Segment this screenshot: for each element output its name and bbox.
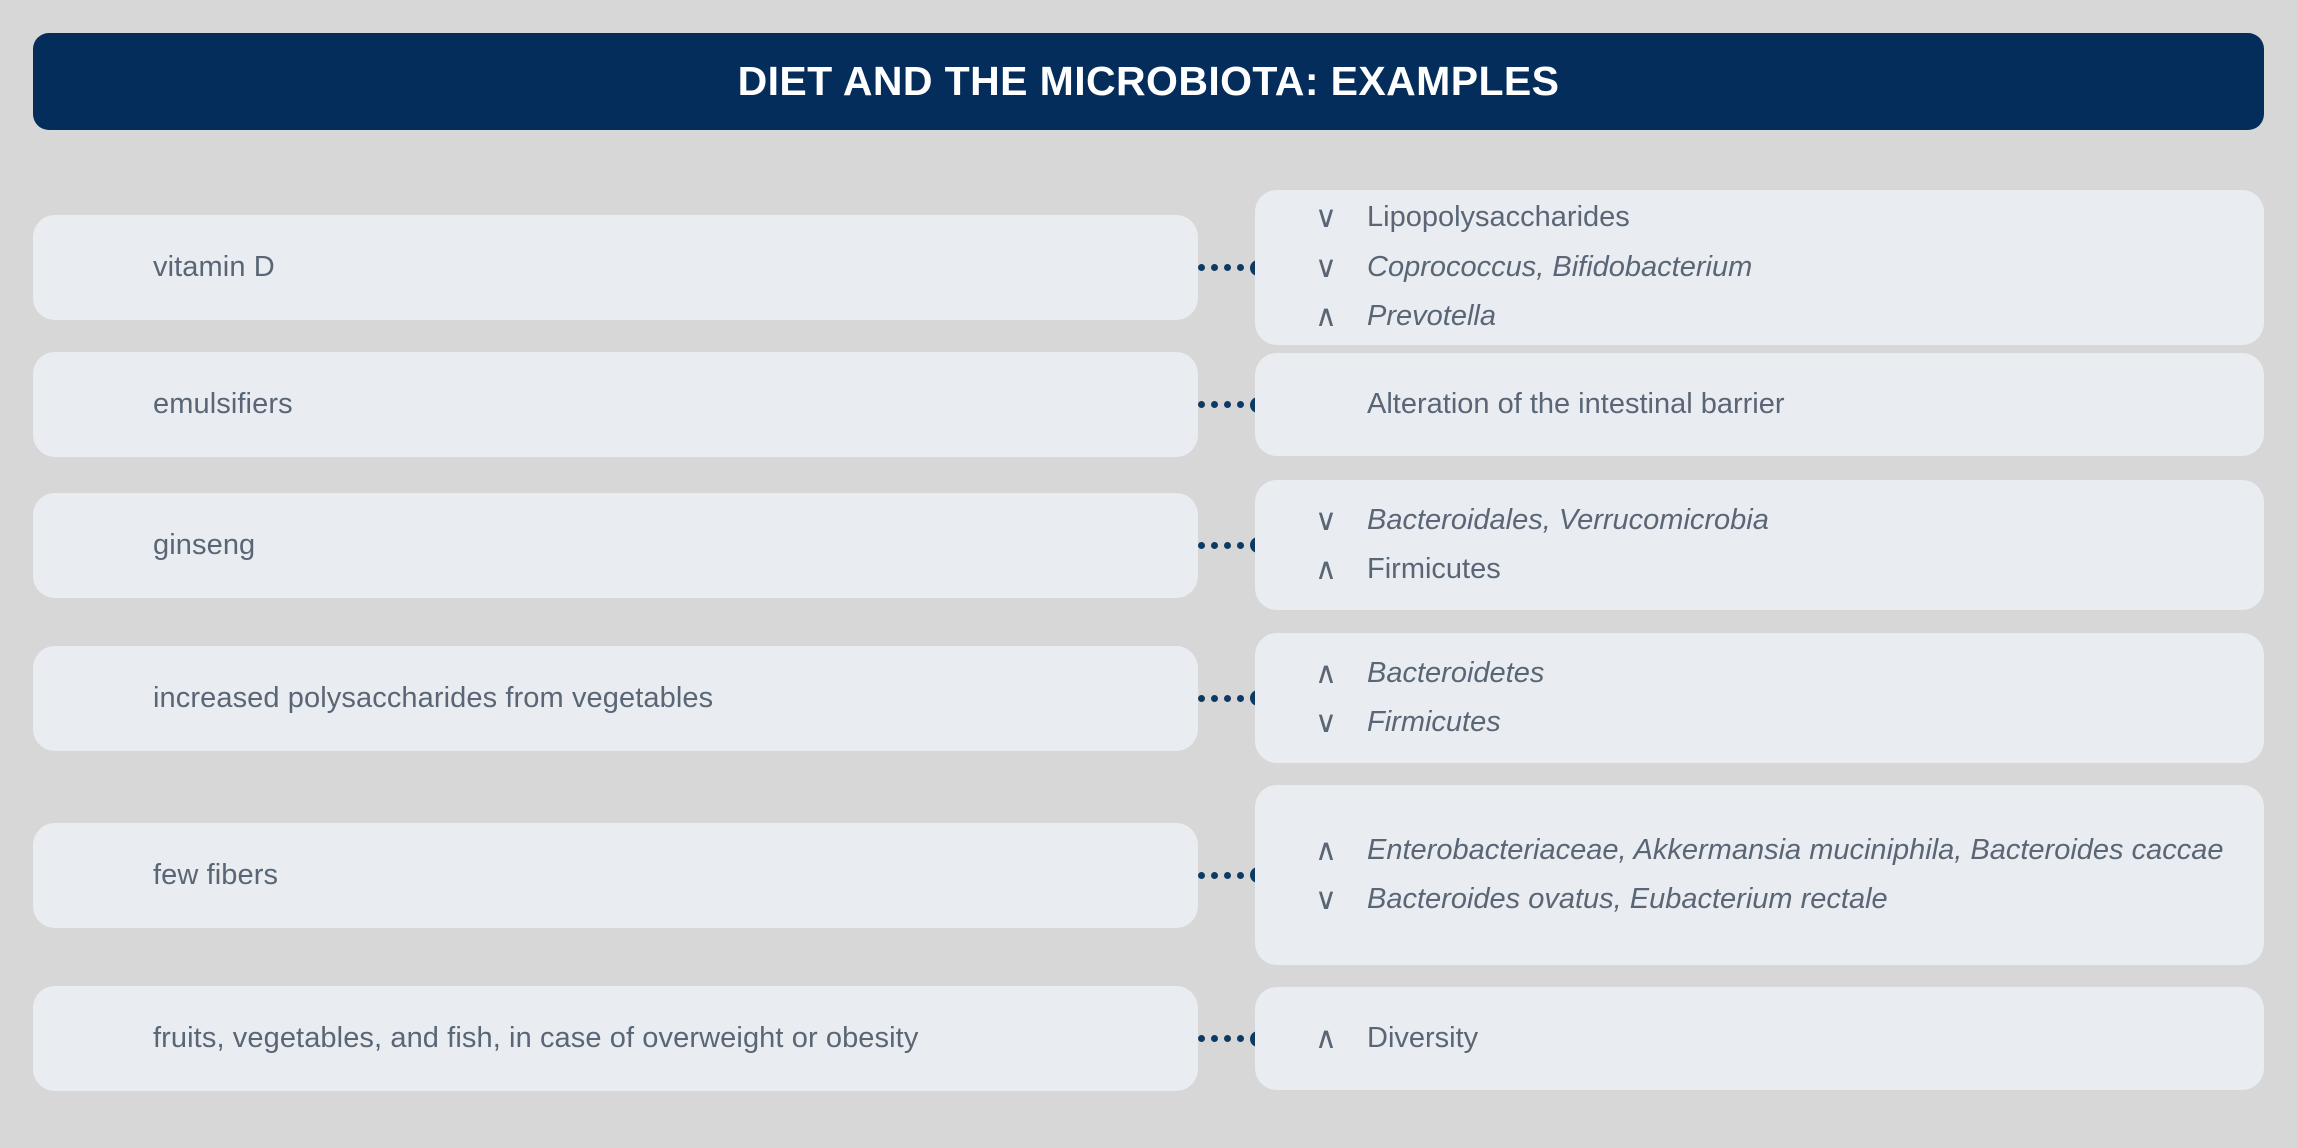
microbiota-effect-card[interactable]: Alteration of the intestinal barrier <box>1255 353 2264 456</box>
microbiota-effect-text: Bacteroidales, Verrucomicrobia <box>1367 503 2238 537</box>
connector-dot <box>1224 872 1231 879</box>
microbiota-effect-line: ∧Firmicutes <box>1315 552 2238 587</box>
connector-dot <box>1211 695 1218 702</box>
connector-dot <box>1198 1035 1205 1042</box>
connector-dot <box>1224 264 1231 271</box>
arrow-up-icon: ∧ <box>1315 1021 1367 1056</box>
diet-factor-card[interactable]: increased polysaccharides from vegetable… <box>33 646 1198 751</box>
diet-factor-label: fruits, vegetables, and fish, in case of… <box>153 1020 1198 1056</box>
connector-dot <box>1211 542 1218 549</box>
diet-factor-label: increased polysaccharides from vegetable… <box>153 680 1198 716</box>
diet-factor-card[interactable]: ginseng <box>33 493 1198 598</box>
connector-dot <box>1224 695 1231 702</box>
diet-effect-row: fruits, vegetables, and fish, in case of… <box>0 986 2297 1091</box>
microbiota-effect-line: ∧Prevotella <box>1315 299 2238 334</box>
connector-dot <box>1198 542 1205 549</box>
microbiota-effect-line: ∨Coprococcus, Bifidobacterium <box>1315 250 2238 285</box>
microbiota-effect-card[interactable]: ∨Lipopolysaccharides∨Coprococcus, Bifido… <box>1255 190 2264 345</box>
connector-dot <box>1237 401 1244 408</box>
connector-dot <box>1198 264 1205 271</box>
microbiota-effect-card[interactable]: ∧Bacteroidetes∨Firmicutes <box>1255 633 2264 763</box>
microbiota-effect-card[interactable]: ∧Enterobacteriaceae, Akkermansia mucinip… <box>1255 785 2264 965</box>
diet-factor-card[interactable]: vitamin D <box>33 215 1198 320</box>
dotted-connector-icon <box>1198 537 1255 553</box>
diet-factor-label: emulsifiers <box>153 386 1198 422</box>
dotted-connector-icon <box>1198 867 1255 883</box>
microbiota-effect-line: ∨Lipopolysaccharides <box>1315 200 2238 235</box>
microbiota-effect-card[interactable]: ∨Bacteroidales, Verrucomicrobia∧Firmicut… <box>1255 480 2264 610</box>
arrow-down-icon: ∨ <box>1315 200 1367 235</box>
dotted-connector-icon <box>1198 690 1255 706</box>
arrow-up-icon: ∧ <box>1315 656 1367 691</box>
arrow-up-icon: ∧ <box>1315 552 1367 587</box>
diet-factor-label: ginseng <box>153 527 1198 563</box>
microbiota-effect-line: ∧Diversity <box>1315 1021 2238 1056</box>
dotted-connector-icon <box>1198 260 1255 276</box>
dotted-connector-icon <box>1198 397 1255 413</box>
connector-dot <box>1198 872 1205 879</box>
arrow-down-icon: ∨ <box>1315 250 1367 285</box>
microbiota-effect-text: Diversity <box>1367 1021 2238 1055</box>
microbiota-effect-line: ∧Enterobacteriaceae, Akkermansia mucinip… <box>1315 833 2238 868</box>
slide-root: DIET AND THE MICROBIOTA: EXAMPLES vitami… <box>0 0 2297 1148</box>
connector-dot <box>1211 401 1218 408</box>
connector-dot <box>1237 1035 1244 1042</box>
diet-effect-row: emulsifiersAlteration of the intestinal … <box>0 352 2297 457</box>
diet-factor-card[interactable]: few fibers <box>33 823 1198 928</box>
diet-effect-row: few fibers∧Enterobacteriaceae, Akkermans… <box>0 785 2297 965</box>
connector-dot <box>1198 695 1205 702</box>
arrow-down-icon: ∨ <box>1315 705 1367 740</box>
connector-dot <box>1211 264 1218 271</box>
microbiota-effect-line: ∧Bacteroidetes <box>1315 656 2238 691</box>
connector-dot <box>1211 872 1218 879</box>
connector-dot <box>1224 1035 1231 1042</box>
microbiota-effect-line: Alteration of the intestinal barrier <box>1315 387 2238 421</box>
rows-container: vitamin D∨Lipopolysaccharides∨Coprococcu… <box>0 140 2297 1148</box>
microbiota-effect-text: Enterobacteriaceae, Akkermansia muciniph… <box>1367 833 2238 867</box>
diet-factor-label: vitamin D <box>153 249 1198 285</box>
microbiota-effect-card[interactable]: ∧Diversity <box>1255 987 2264 1090</box>
microbiota-effect-text: Coprococcus, Bifidobacterium <box>1367 250 2238 284</box>
microbiota-effect-text: Prevotella <box>1367 299 2238 333</box>
diet-factor-card[interactable]: fruits, vegetables, and fish, in case of… <box>33 986 1198 1091</box>
microbiota-effect-text: Bacteroidetes <box>1367 656 2238 690</box>
connector-dot <box>1224 542 1231 549</box>
arrow-up-icon: ∧ <box>1315 833 1367 868</box>
slide-title-bar: DIET AND THE MICROBIOTA: EXAMPLES <box>33 33 2264 130</box>
arrow-up-icon: ∧ <box>1315 299 1367 334</box>
diet-factor-label: few fibers <box>153 857 1198 893</box>
diet-effect-row: increased polysaccharides from vegetable… <box>0 633 2297 763</box>
connector-dot <box>1237 872 1244 879</box>
page-title: DIET AND THE MICROBIOTA: EXAMPLES <box>738 58 1560 105</box>
microbiota-effect-text: Bacteroides ovatus, Eubacterium rectale <box>1367 882 2238 916</box>
arrow-down-icon: ∨ <box>1315 503 1367 538</box>
microbiota-effect-text: Firmicutes <box>1367 552 2238 586</box>
connector-dot <box>1211 1035 1218 1042</box>
diet-effect-row: vitamin D∨Lipopolysaccharides∨Coprococcu… <box>0 190 2297 345</box>
microbiota-effect-line: ∨Bacteroidales, Verrucomicrobia <box>1315 503 2238 538</box>
diet-effect-row: ginseng∨Bacteroidales, Verrucomicrobia∧F… <box>0 480 2297 610</box>
microbiota-effect-line: ∨Firmicutes <box>1315 705 2238 740</box>
arrow-down-icon: ∨ <box>1315 882 1367 917</box>
microbiota-effect-text: Firmicutes <box>1367 705 2238 739</box>
connector-dot <box>1198 401 1205 408</box>
microbiota-effect-text: Alteration of the intestinal barrier <box>1367 387 2238 421</box>
connector-dot <box>1237 695 1244 702</box>
microbiota-effect-line: ∨Bacteroides ovatus, Eubacterium rectale <box>1315 882 2238 917</box>
connector-dot <box>1224 401 1231 408</box>
diet-factor-card[interactable]: emulsifiers <box>33 352 1198 457</box>
connector-dot <box>1237 542 1244 549</box>
dotted-connector-icon <box>1198 1031 1255 1047</box>
connector-dot <box>1237 264 1244 271</box>
microbiota-effect-text: Lipopolysaccharides <box>1367 200 2238 234</box>
